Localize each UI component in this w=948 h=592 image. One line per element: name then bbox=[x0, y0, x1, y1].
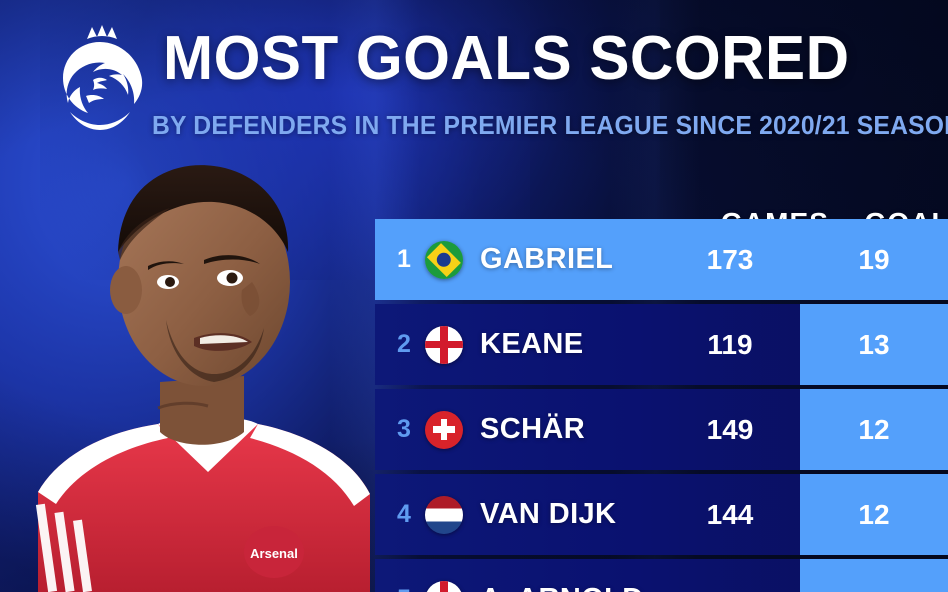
row-games-value: 173 bbox=[675, 219, 785, 300]
table-row[interactable]: 4 VAN DIJK 144 12 bbox=[375, 474, 948, 555]
row-games-value bbox=[675, 559, 785, 592]
table-row[interactable]: 1 GABRIEL 173 19 bbox=[375, 219, 948, 300]
brazil-flag-icon bbox=[425, 241, 463, 279]
row-goals-value: 12 bbox=[800, 474, 948, 555]
row-goals-value: 12 bbox=[800, 389, 948, 470]
leaderboard-table: 1 GABRIEL 173 19 2 KEANE 119 13 3 SCHÄR … bbox=[375, 219, 948, 592]
row-rank: 3 bbox=[389, 389, 419, 470]
svg-text:Arsenal: Arsenal bbox=[250, 546, 298, 561]
table-row[interactable]: 3 SCHÄR 149 12 bbox=[375, 389, 948, 470]
row-rank: 5 bbox=[389, 559, 419, 592]
row-goals-value: 13 bbox=[800, 304, 948, 385]
player-photo-gabriel: Arsenal bbox=[8, 132, 400, 592]
row-rank: 2 bbox=[389, 304, 419, 385]
switzerland-flag-icon bbox=[425, 411, 463, 449]
row-player-name: A. ARNOLD bbox=[480, 559, 644, 592]
row-goals-value: 19 bbox=[800, 219, 948, 300]
row-goals-value bbox=[800, 559, 948, 592]
row-games-value: 119 bbox=[675, 304, 785, 385]
england-flag-icon bbox=[425, 326, 463, 364]
row-player-name: KEANE bbox=[480, 304, 584, 385]
row-games-value: 149 bbox=[675, 389, 785, 470]
table-column-headers: GAMES GOALS bbox=[375, 182, 948, 208]
row-player-name: GABRIEL bbox=[480, 219, 613, 300]
row-player-name: SCHÄR bbox=[480, 389, 585, 470]
premier-league-lion-icon bbox=[48, 24, 152, 136]
row-rank: 1 bbox=[389, 219, 419, 300]
row-player-name: VAN DIJK bbox=[480, 474, 616, 555]
netherlands-flag-icon bbox=[425, 496, 463, 534]
row-games-value: 144 bbox=[675, 474, 785, 555]
page-title: MOST GOALS SCORED bbox=[163, 26, 850, 91]
row-rank: 4 bbox=[389, 474, 419, 555]
table-row[interactable]: 2 KEANE 119 13 bbox=[375, 304, 948, 385]
infographic-root: MOST GOALS SCORED BY DEFENDERS IN THE PR… bbox=[0, 0, 948, 592]
table-row[interactable]: 5 A. ARNOLD bbox=[375, 559, 948, 592]
england-flag-icon bbox=[425, 581, 463, 592]
